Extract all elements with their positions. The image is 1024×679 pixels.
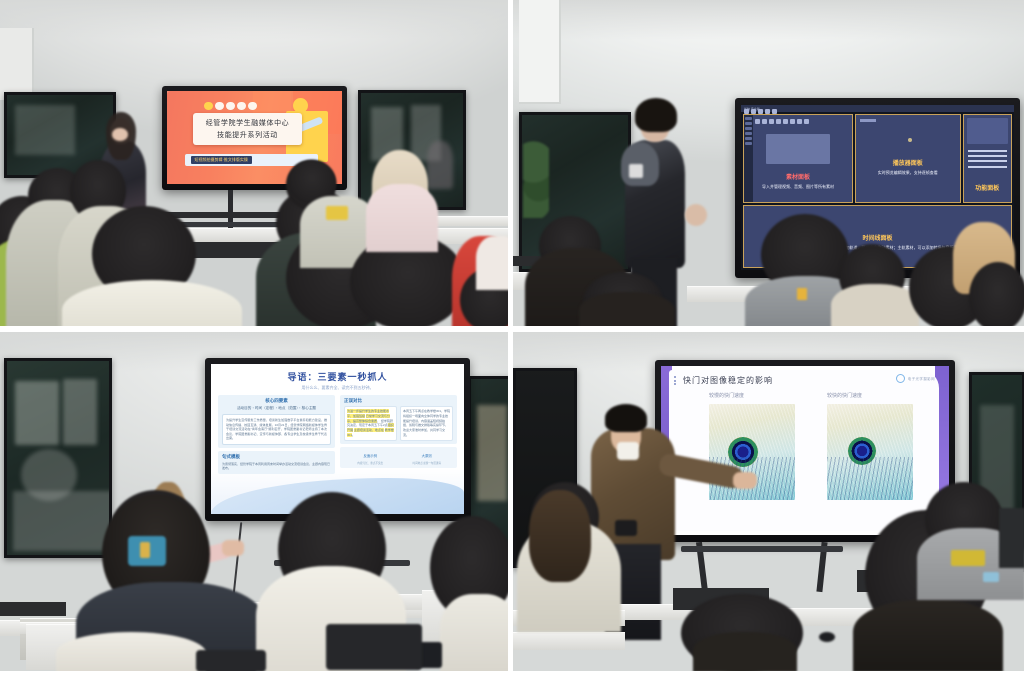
chair xyxy=(326,624,422,670)
presenter-hair xyxy=(635,98,677,132)
section-items: 活动目的・时间（定程）・地点（范围）・核心主题 xyxy=(222,406,331,411)
laptop xyxy=(0,602,66,616)
pane-label-timeline: 时间线面板 xyxy=(862,233,892,242)
audience-member xyxy=(366,184,438,252)
hair-clip-detail xyxy=(140,542,150,558)
audience-member xyxy=(476,236,508,290)
toolbar-icon xyxy=(783,119,788,124)
toolbar-icon xyxy=(776,119,781,124)
toolbar-icon xyxy=(769,119,774,124)
collage-panel-bottom-left: 导语：三要素一秒抓人 用什么么、要素齐全、读完不到五秒钟。 核心四要素 活动目的… xyxy=(0,332,508,671)
section-paragraph: 为提升学生宣传服务工作质量，培训新生加强数字平台素养和能力建设，推动信息传播、校… xyxy=(222,414,331,445)
ceiling-shadow xyxy=(513,0,1024,40)
toolbar-icon xyxy=(772,109,777,114)
audience-member xyxy=(969,262,1024,326)
collage-panel-top-right: 剪映 专业版 xyxy=(513,0,1024,326)
section-heading: 句式模板 xyxy=(222,454,331,460)
toolbar-icon xyxy=(751,109,756,114)
comparison-image-right xyxy=(827,404,913,500)
photo-collage: 经管学院学生融媒体中心 技能提升系列活动 短视频拍摄剪辑·推文排版实操 xyxy=(0,0,1024,679)
poster-ribbon-text: 短视频拍摄剪辑·推文排版实操 xyxy=(191,156,252,164)
toolbar-icon xyxy=(790,119,795,124)
editor-sidebar xyxy=(744,115,753,202)
display-stand-base xyxy=(176,222,286,227)
hoodie-text xyxy=(326,206,348,220)
timeline-toolbar xyxy=(744,107,1011,115)
example-label: 反面示例 xyxy=(344,453,397,458)
toolbar-icon xyxy=(804,119,809,124)
mouse xyxy=(819,632,835,642)
slide-title: 导语：三要素一秒抓人 xyxy=(218,370,457,383)
pane-desc-player: 实时预览编辑效果，支持逐帧查看 xyxy=(878,170,938,176)
side-monitor-left xyxy=(4,358,112,558)
editor-pane-materials: 素材面板 导入并管理视频、音频、图片等所有素材 xyxy=(743,114,853,203)
example-label: 大原则 xyxy=(401,453,454,458)
presenter-hand xyxy=(733,472,757,489)
jacket-logo xyxy=(629,164,643,178)
presenter-clicker xyxy=(615,520,637,536)
window-frame xyxy=(0,28,34,100)
badge xyxy=(797,288,807,300)
collage-panel-top-left: 经管学院学生融媒体中心 技能提升系列活动 短视频拍摄剪辑·推文排版实操 xyxy=(0,0,508,326)
logo-circle-icon xyxy=(896,374,905,383)
door-frame xyxy=(519,0,561,104)
editor-pane-tools: 功能面板 xyxy=(963,114,1012,203)
editor-pane-player: 播放器面板 实时预览编辑效果，支持逐帧查看 xyxy=(855,114,961,203)
editor-toolbar xyxy=(755,117,850,125)
audience-member xyxy=(579,292,675,326)
audience-member xyxy=(853,600,1003,671)
caption-right: 较快的快门速度 xyxy=(827,392,862,399)
ceiling-shadow xyxy=(0,0,508,40)
slide-section-template: 句式模板 为贯彻落实、经管学院于本周利用周末时间举办活动交流培训会议，主题内容现… xyxy=(218,451,335,474)
pane-label-player: 播放器面板 xyxy=(893,158,923,167)
poster-title-line-2: 技能提升系列活动 xyxy=(217,130,278,140)
toolbar-icon xyxy=(762,119,767,124)
audience-member xyxy=(440,594,508,671)
audience-member-hair xyxy=(529,490,591,582)
slide-logo: 电子光学摄影网 xyxy=(896,374,935,383)
poster-title-card: 经管学院学生融媒体中心 技能提升系列活动 xyxy=(193,113,302,145)
caption-left: 较慢的快门速度 xyxy=(709,392,744,399)
logo-text: 电子光学摄影网 xyxy=(908,376,935,381)
slide-section-core: 核心四要素 活动目的・时间（定程）・地点（范围）・核心主题 为提升学生宣传服务工… xyxy=(218,395,335,448)
audience-member xyxy=(56,632,206,671)
toolbar-icon xyxy=(744,109,749,114)
audience-member xyxy=(999,508,1024,568)
pane-desc-materials: 导入并管理视频、音频、图片等所有素材 xyxy=(762,184,834,190)
presenter-shirt xyxy=(617,442,639,460)
smiley-icon xyxy=(293,98,308,113)
chair xyxy=(196,650,266,671)
material-thumbnail xyxy=(766,134,831,164)
toolbar-icon xyxy=(755,119,760,124)
display-stand-base xyxy=(681,546,843,552)
section-heading: 核心四要素 xyxy=(222,398,331,404)
pane-label-tools: 功能面板 xyxy=(975,183,999,192)
audience-member xyxy=(693,632,797,671)
toolbar-icon xyxy=(797,119,802,124)
desk-row xyxy=(513,632,625,650)
audience-member xyxy=(831,284,919,326)
pane-label-materials: 素材面板 xyxy=(786,172,810,181)
presenter-hair xyxy=(605,404,647,432)
presenter-hand xyxy=(685,204,707,226)
hoodie-detail xyxy=(983,572,999,582)
bullet-dots-icon xyxy=(674,376,676,385)
toolbar-icon xyxy=(758,109,763,114)
slide-title: 快门对图像稳定的影响 xyxy=(683,375,773,386)
toolbar-icon xyxy=(765,109,770,114)
hoodie-text xyxy=(951,550,985,566)
collage-panel-bottom-right: 快门对图像稳定的影响 电子光学摄影网 较慢的快门速度 较快的快门速度 xyxy=(513,332,1024,671)
slide-section-examples: 反面示例 内容冗长、重点不突出 大原则 时间地点主题一句话讲清 xyxy=(340,447,457,468)
slide-photo-comparison: 快门对图像稳定的影响 电子光学摄影网 较慢的快门速度 较快的快门速度 xyxy=(661,366,949,535)
poster-title-line-1: 经管学院学生融媒体中心 xyxy=(206,118,290,128)
slide-section-compare: 正误对比 为进一步提升学生的专业技能水平，加强班级 日常学习交流与分享，提高整体… xyxy=(340,395,457,444)
display-screen: 快门对图像稳定的影响 电子光学摄影网 较慢的快门速度 较快的快门速度 xyxy=(661,366,949,535)
potted-plant xyxy=(523,138,549,218)
slide-subtitle: 用什么么、要素齐全、读完不到五秒钟。 xyxy=(218,385,457,391)
heart-row-icon xyxy=(204,102,257,110)
presenter-hand xyxy=(222,540,244,556)
